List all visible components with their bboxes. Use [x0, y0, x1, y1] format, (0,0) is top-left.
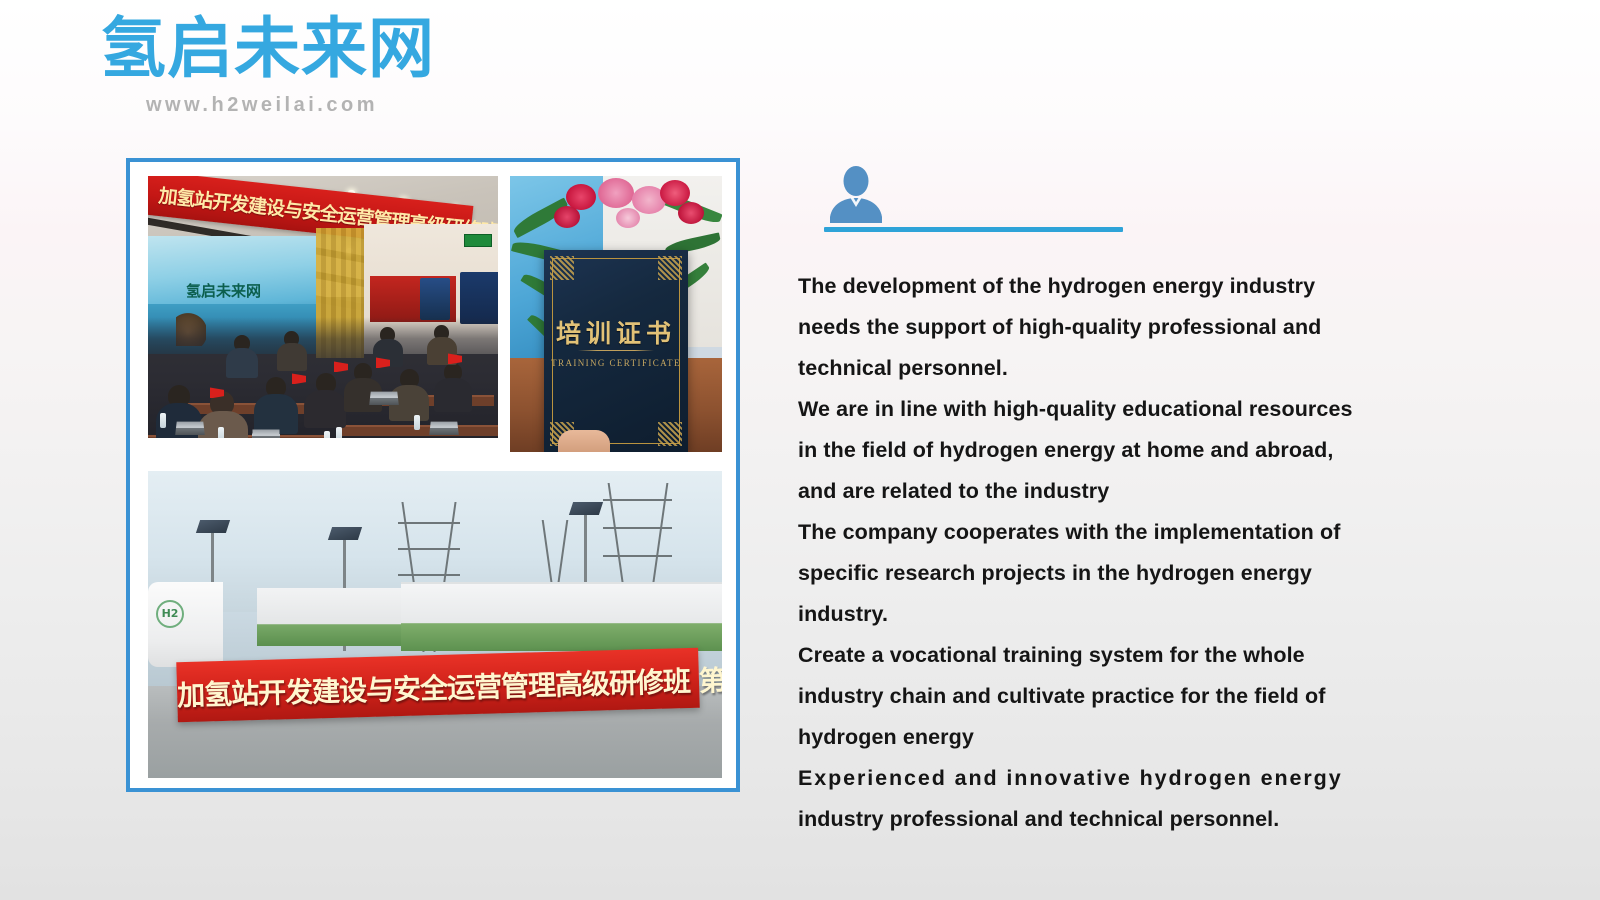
paragraph-line: The development of the hydrogen energy i… [798, 266, 1392, 307]
site-logo: 氢启未来网 www.h2weilai.com [100, 16, 520, 117]
screen-logo-text: 氢启未来网 [186, 280, 261, 301]
paragraph-line: We are in line with high-quality educati… [798, 389, 1392, 430]
paragraph-line: technical personnel. [798, 348, 1392, 389]
station-building [401, 582, 722, 652]
photo-grid: 加氢站开发建设与安全运营管理高级研修班 第Ⅰ期 氢启未来网 [148, 176, 722, 778]
certificate-cover: 培训证书 TRAINING CERTIFICATE [544, 250, 688, 452]
slide-canvas: 氢启未来网 www.h2weilai.com [0, 0, 1600, 900]
exit-sign [464, 234, 492, 247]
hand [558, 430, 610, 452]
paragraph-line: specific research projects in the hydrog… [798, 553, 1392, 594]
audience-area [148, 317, 498, 438]
brand-name-cn: 氢启未来网 [100, 16, 520, 82]
h2-badge: H2 [156, 600, 184, 628]
certificate-title-en: TRAINING CERTIFICATE [544, 358, 688, 368]
paragraph-line: industry. [798, 594, 1392, 635]
paragraph-line: hydrogen energy [798, 717, 1392, 758]
section-header [798, 165, 1394, 227]
paragraph-line: in the field of hydrogen energy at home … [798, 430, 1392, 471]
hydrogen-tank [148, 582, 223, 668]
paragraph-line: industry chain and cultivate practice fo… [798, 676, 1392, 717]
group-banner-text: 加氢站开发建设与安全运营管理高级研修班 第Ⅰ期 [176, 660, 699, 715]
paragraph-line: and are related to the industry [798, 471, 1392, 512]
paragraph-line: Create a vocational training system for … [798, 635, 1392, 676]
certificate-divider [578, 350, 654, 351]
training-certificate-photo: 培训证书 TRAINING CERTIFICATE [510, 176, 722, 452]
person-icon [824, 165, 888, 223]
paragraph-line: Experienced and innovative hydrogen ener… [798, 758, 1392, 799]
station-building-left [257, 588, 406, 646]
conference-training-room-photo: 加氢站开发建设与安全运营管理高级研修班 第Ⅰ期 氢启未来网 [148, 176, 498, 438]
body-copy: The development of the hydrogen energy i… [798, 266, 1392, 840]
certificate-title-cn: 培训证书 [544, 314, 688, 350]
photo-collage-frame: 加氢站开发建设与安全运营管理高级研修班 第Ⅰ期 氢启未来网 [126, 158, 740, 792]
brand-url: www.h2weilai.com [146, 94, 520, 117]
paragraph-line: The company cooperates with the implemen… [798, 512, 1392, 553]
section-divider-rule [824, 227, 1123, 232]
gold-border [552, 258, 680, 444]
paragraph-line: industry professional and technical pers… [798, 799, 1392, 840]
group-photo-hydrogen-station: H2 加氢站开发建设与安全运营管理高级研修班 第Ⅰ期 [148, 471, 722, 778]
paragraph-line: needs the support of high-quality profes… [798, 307, 1392, 348]
person-icon-wrap [798, 165, 1394, 227]
